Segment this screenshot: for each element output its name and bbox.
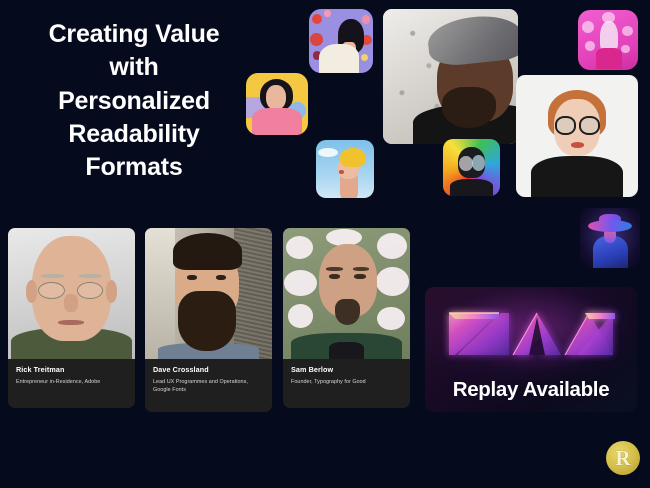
speaker-photo-rick-treitman — [8, 228, 135, 359]
thumbnail-glasses-portrait[interactable] — [516, 75, 638, 197]
thumbnail-dots-avatar[interactable] — [309, 9, 373, 73]
speaker-name: Sam Berlow — [291, 365, 402, 374]
speaker-name: Rick Treitman — [16, 365, 127, 374]
illustrated-avatar-sky-icon — [316, 140, 374, 198]
circular-r-monogram-icon[interactable]: R — [606, 441, 640, 475]
thumbnail-flat-cap-portrait[interactable] — [383, 9, 518, 144]
replay-caption: Replay Available — [425, 378, 637, 402]
illustrated-avatar-pink-floral-icon — [578, 10, 638, 70]
speaker-meta: Dave Crossland Lead UX Programmes and Op… — [145, 359, 272, 403]
thumbnail-rainbow-avatar[interactable] — [443, 139, 500, 196]
illustrated-avatar-rainbow-icon — [443, 139, 500, 196]
poster-canvas: Creating Value with Personalized Readabi… — [0, 0, 650, 488]
speaker-name: Dave Crossland — [153, 365, 264, 374]
speaker-photo-sam-berlow — [283, 228, 410, 359]
photo-portrait-flat-cap-icon — [383, 9, 518, 144]
speaker-card-rick-treitman[interactable]: Rick Treitman Entrepreneur in-Residence,… — [8, 228, 135, 408]
title-line-4: Readability — [0, 118, 268, 151]
speaker-role: Lead UX Programmes and Operations, Googl… — [153, 378, 264, 394]
page-title: Creating Value with Personalized Readabi… — [0, 18, 268, 184]
title-line-2: with — [0, 51, 268, 84]
speaker-card-dave-crossland[interactable]: Dave Crossland Lead UX Programmes and Op… — [145, 228, 272, 412]
mas-chevron-logo-icon — [425, 293, 637, 363]
thumbnail-yellow-avatar[interactable] — [246, 73, 308, 135]
title-line-1: Creating Value — [0, 18, 268, 51]
title-line-5: Formats — [0, 151, 268, 184]
thumbnail-neon-hat-avatar[interactable] — [580, 208, 640, 268]
photo-portrait-glasses-icon — [516, 75, 638, 197]
illustrated-avatar-neon-hat-icon — [580, 208, 640, 268]
badge-monogram: R — [615, 448, 630, 469]
title-line-3: Personalized — [0, 85, 268, 118]
speaker-photo-dave-crossland — [145, 228, 272, 359]
thumbnail-pink-floral-avatar[interactable] — [578, 10, 638, 70]
replay-panel[interactable]: Replay Available — [425, 287, 637, 412]
illustrated-avatar-dots-icon — [309, 9, 373, 73]
illustrated-avatar-yellow-icon — [246, 73, 308, 135]
speaker-meta: Rick Treitman Entrepreneur in-Residence,… — [8, 359, 135, 395]
thumbnail-sky-hat-avatar[interactable] — [316, 140, 374, 198]
speaker-role: Founder, Typography for Good — [291, 378, 402, 386]
speaker-role: Entrepreneur in-Residence, Adobe — [16, 378, 127, 386]
speaker-card-sam-berlow[interactable]: Sam Berlow Founder, Typography for Good — [283, 228, 410, 408]
speaker-meta: Sam Berlow Founder, Typography for Good — [283, 359, 410, 395]
